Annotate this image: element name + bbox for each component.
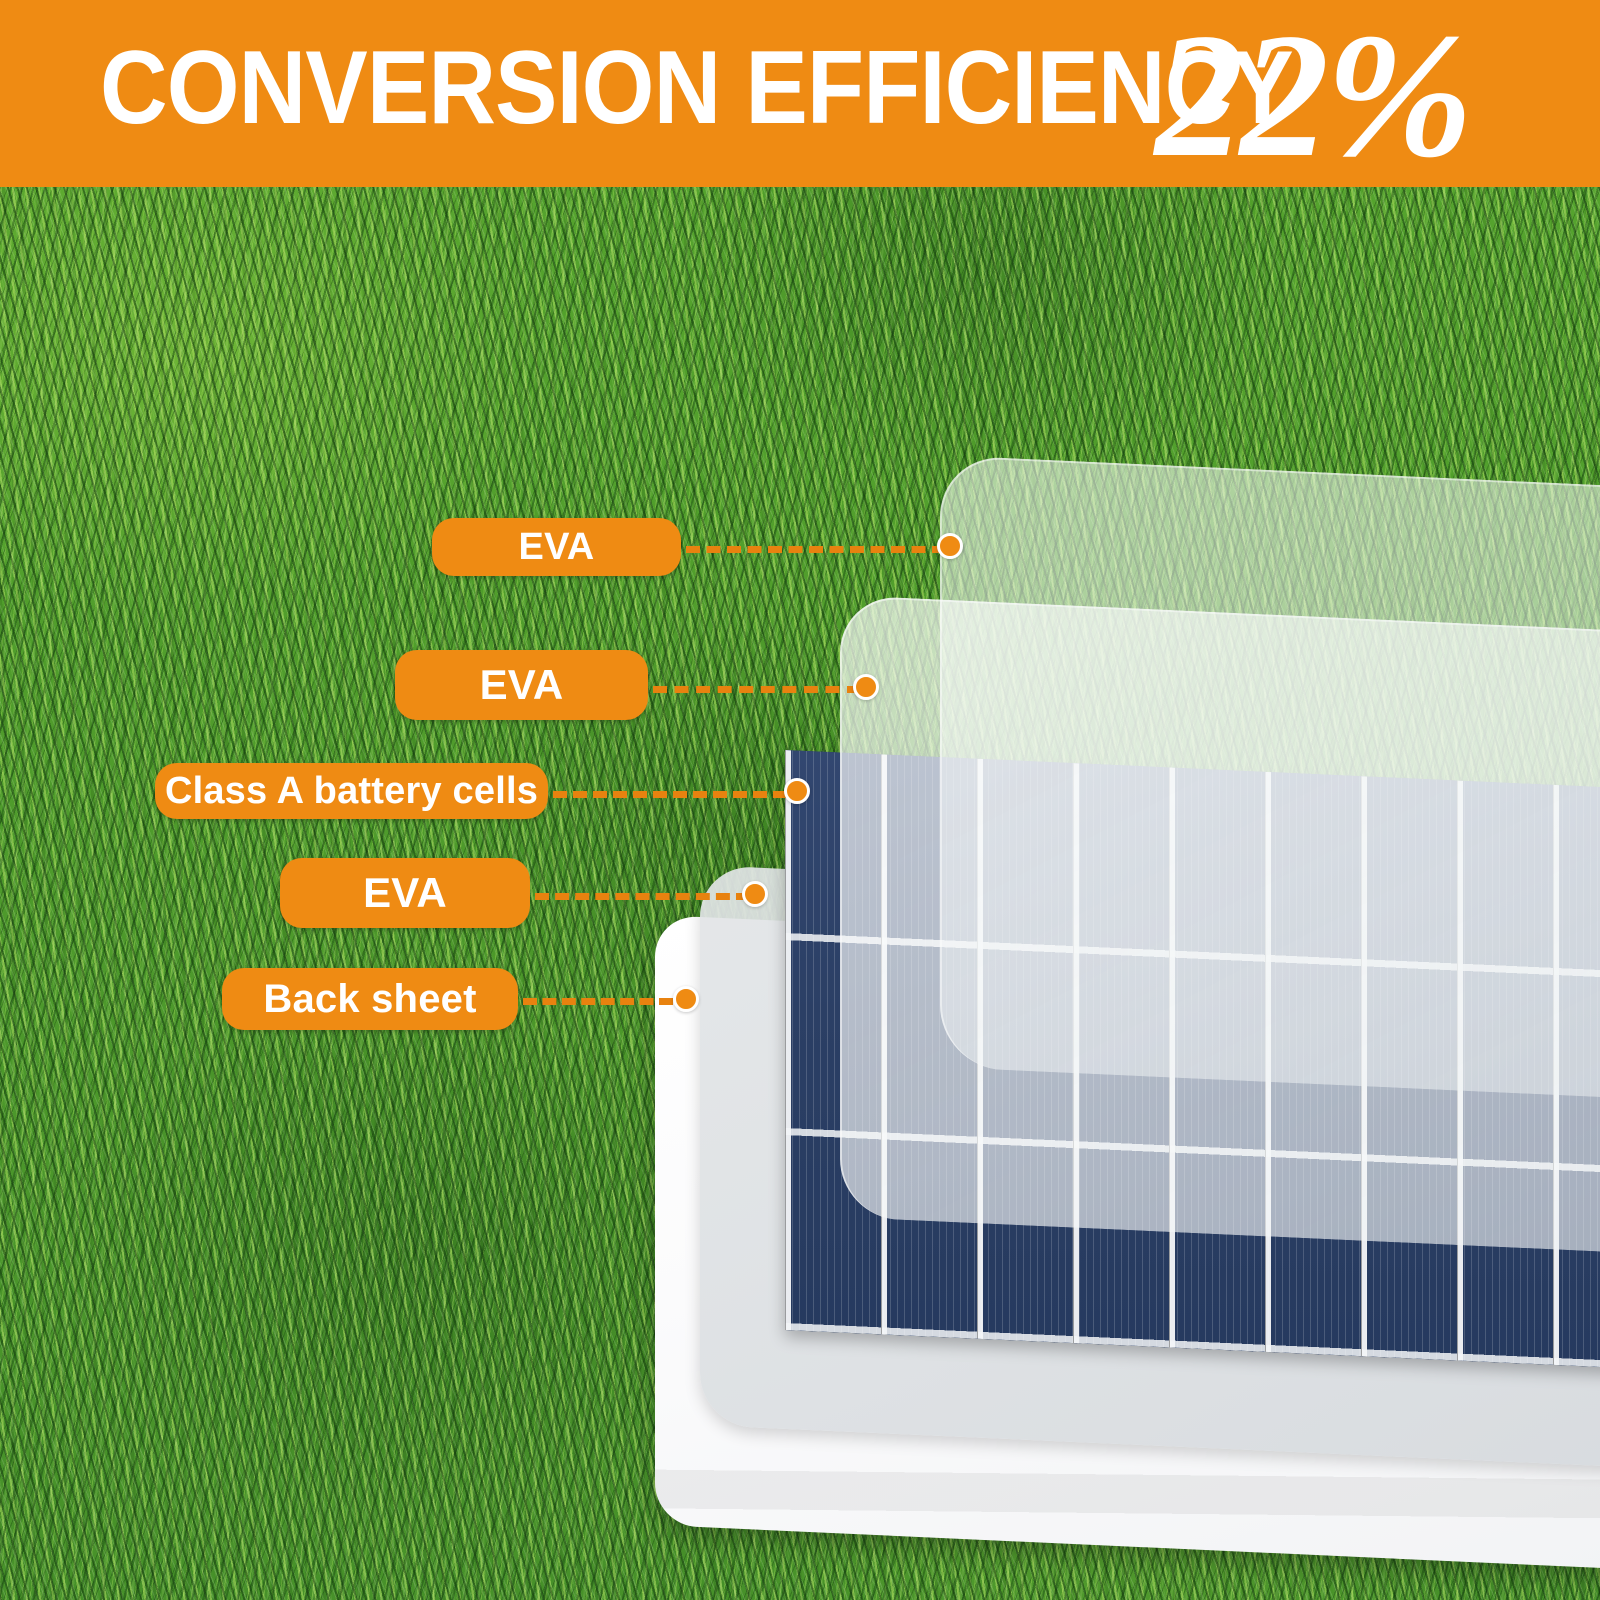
product-infographic: EVA EVA Class A battery cells EVA Back s… (0, 0, 1600, 1600)
callout-dot-eva-3 (742, 881, 768, 907)
callout-leader-line-backsheet (523, 998, 673, 1005)
banner-efficiency-value: 22% (1155, 6, 1469, 184)
header-banner: CONVERSION EFFICIENCY 22% (0, 0, 1600, 187)
callout-label-backsheet[interactable]: Back sheet (222, 968, 518, 1030)
callout-leader-line-cells (553, 791, 787, 798)
callout-dot-eva-2 (853, 674, 879, 700)
eva-top-layer (940, 455, 1600, 1103)
banner-title: CONVERSION EFFICIENCY (100, 36, 1293, 140)
callout-leader-line-eva-2 (653, 686, 861, 693)
callout-leader-line-eva-3 (535, 893, 750, 900)
callout-label-cells[interactable]: Class A battery cells (155, 763, 548, 819)
callout-dot-eva-1 (937, 533, 963, 559)
callout-dot-backsheet (673, 986, 699, 1012)
callout-label-eva-2[interactable]: EVA (395, 650, 648, 720)
callout-leader-line-eva-1 (686, 546, 946, 553)
callout-label-eva-1[interactable]: EVA (432, 518, 681, 576)
callout-label-eva-3[interactable]: EVA (280, 858, 530, 928)
callout-dot-cells (784, 778, 810, 804)
